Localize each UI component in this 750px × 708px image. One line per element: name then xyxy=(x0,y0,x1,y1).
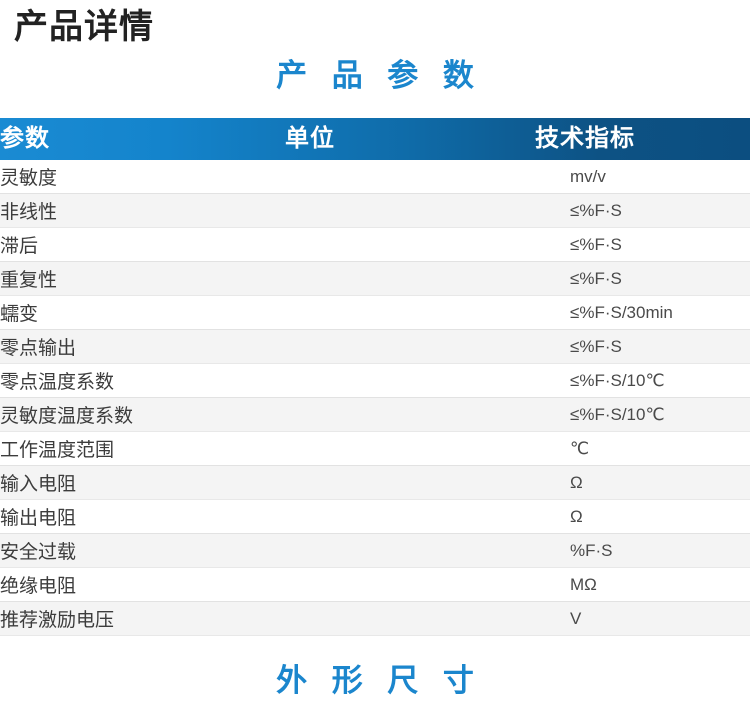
cell-parameter: 输出电阻 xyxy=(0,500,285,534)
cell-parameter: 绝缘电阻 xyxy=(0,568,285,602)
cell-parameter: 灵敏度温度系数 xyxy=(0,398,285,432)
cell-parameter: 推荐激励电压 xyxy=(0,602,285,636)
cell-unit: mv/v xyxy=(285,160,535,194)
cell-parameter: 重复性 xyxy=(0,262,285,296)
cell-parameter: 零点温度系数 xyxy=(0,364,285,398)
column-header-parameter: 参数 xyxy=(0,118,285,160)
table-row: 蠕变≤%F·S/30min±0.1 xyxy=(0,296,750,330)
section-heading-product-parameters: 产 品 参 数 xyxy=(0,50,750,95)
cell-parameter: 灵敏度 xyxy=(0,160,285,194)
table-row: 灵敏度温度系数≤%F·S/10℃±0.1 xyxy=(0,398,750,432)
cell-spec: 750±20Ω xyxy=(535,466,750,500)
cell-spec: ±0.1 xyxy=(535,262,750,296)
cell-parameter: 工作温度范围 xyxy=(0,432,285,466)
cell-parameter: 滞后 xyxy=(0,228,285,262)
cell-spec: 2.0±0.05 xyxy=(535,160,750,194)
page-title: 产品详情 xyxy=(14,9,154,46)
table-row: 滞后≤%F·S±0.1 xyxy=(0,228,750,262)
cell-spec: ±0.1 xyxy=(535,228,750,262)
cell-spec: ±0.1 xyxy=(535,296,750,330)
cell-unit: ℃ xyxy=(285,432,535,466)
cell-parameter: 安全过载 xyxy=(0,534,285,568)
cell-parameter: 零点输出 xyxy=(0,330,285,364)
cell-parameter: 蠕变 xyxy=(0,296,285,330)
cell-spec: ≥5000MΩ(50VDC) xyxy=(535,568,750,602)
table-row: 重复性≤%F·S±0.1 xyxy=(0,262,750,296)
table-header-row: 参数 单位 技术指标 xyxy=(0,118,750,160)
cell-unit: ≤%F·S/30min xyxy=(285,296,535,330)
cell-parameter: 非线性 xyxy=(0,194,285,228)
column-header-spec: 技术指标 xyxy=(535,118,750,160)
cell-unit: ≤%F·S/10℃ xyxy=(285,398,535,432)
cell-unit: ≤%F·S xyxy=(285,262,535,296)
cell-spec: ±0.1 xyxy=(535,398,750,432)
cell-spec: 120%FS xyxy=(535,534,750,568)
table-row: 灵敏度mv/v2.0±0.05 xyxy=(0,160,750,194)
cell-unit: ≤%F·S xyxy=(285,330,535,364)
table-row: 工作温度范围℃-10℃～60℃ xyxy=(0,432,750,466)
table-row: 安全过载%F·S120%FS xyxy=(0,534,750,568)
section-heading-dimensions: 外 形 尺 寸 xyxy=(0,655,750,700)
cell-spec: -10℃～60℃ xyxy=(535,432,750,466)
cell-spec: ±1 xyxy=(535,330,750,364)
cell-spec: 750±5Ω xyxy=(535,500,750,534)
cell-unit: ≤%F·S xyxy=(285,228,535,262)
headings-block: 产品详情 产 品 参 数 xyxy=(0,0,750,110)
cell-unit: MΩ xyxy=(285,568,535,602)
cell-unit: ≤%F·S xyxy=(285,194,535,228)
cell-spec: ±0.1 xyxy=(535,364,750,398)
cell-spec: ±0.1 xyxy=(535,194,750,228)
cell-unit: %F·S xyxy=(285,534,535,568)
cell-unit: Ω xyxy=(285,466,535,500)
product-parameters-table: 参数 单位 技术指标 灵敏度mv/v2.0±0.05非线性≤%F·S±0.1滞后… xyxy=(0,118,750,636)
product-detail-page: 产品详情 产 品 参 数 参数 单位 技术指标 灵敏度mv/v2.0±0.05非… xyxy=(0,0,750,708)
cell-unit: ≤%F·S/10℃ xyxy=(285,364,535,398)
table-row: 零点温度系数≤%F·S/10℃±0.1 xyxy=(0,364,750,398)
cell-parameter: 输入电阻 xyxy=(0,466,285,500)
cell-unit: Ω xyxy=(285,500,535,534)
table-row: 输出电阻Ω750±5Ω xyxy=(0,500,750,534)
table-row: 零点输出≤%F·S±1 xyxy=(0,330,750,364)
table-row: 推荐激励电压V5V-12V xyxy=(0,602,750,636)
table-head: 参数 单位 技术指标 xyxy=(0,118,750,160)
table-row: 非线性≤%F·S±0.1 xyxy=(0,194,750,228)
table-row: 输入电阻Ω750±20Ω xyxy=(0,466,750,500)
cell-spec: 5V-12V xyxy=(535,602,750,636)
cell-unit: V xyxy=(285,602,535,636)
table-body: 灵敏度mv/v2.0±0.05非线性≤%F·S±0.1滞后≤%F·S±0.1重复… xyxy=(0,160,750,636)
table-row: 绝缘电阻MΩ≥5000MΩ(50VDC) xyxy=(0,568,750,602)
column-header-unit: 单位 xyxy=(285,118,535,160)
